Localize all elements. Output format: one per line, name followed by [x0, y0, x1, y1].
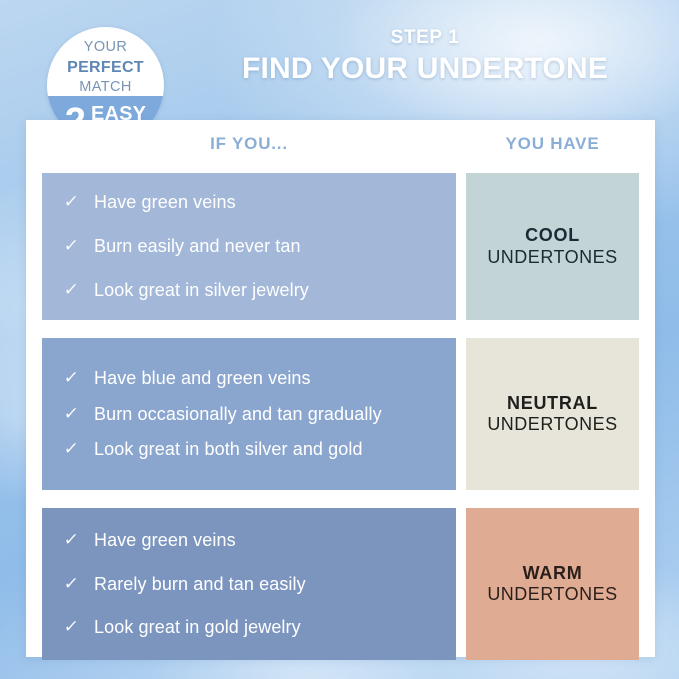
- undertone-row: ✓ Have green veins ✓ Burn easily and nev…: [42, 173, 639, 320]
- undertone-label: UNDERTONES: [487, 414, 617, 435]
- check-icon: ✓: [62, 279, 95, 300]
- undertone-name: WARM: [523, 563, 583, 584]
- page-title: FIND YOUR UNDERTONE: [190, 52, 660, 86]
- badge-line-1: YOUR: [47, 38, 164, 57]
- badge-line-3: MATCH: [47, 78, 164, 97]
- infographic-poster: STEP 1 FIND YOUR UNDERTONE YOUR PERFECT …: [0, 0, 679, 679]
- trait-label: Have blue and green veins: [94, 367, 438, 390]
- trait-item: ✓ Look great in gold jewelry: [64, 616, 438, 639]
- check-icon: ✓: [62, 403, 95, 424]
- trait-item: ✓ Look great in silver jewelry: [64, 279, 438, 302]
- column-header-if-you: IF YOU...: [42, 134, 456, 154]
- check-icon: ✓: [62, 235, 95, 256]
- content-card: IF YOU... YOU HAVE ✓ Have green veins ✓ …: [26, 120, 655, 657]
- undertone-row: ✓ Have green veins ✓ Rarely burn and tan…: [42, 508, 639, 660]
- undertone-row: ✓ Have blue and green veins ✓ Burn occas…: [42, 338, 639, 490]
- check-icon: ✓: [62, 191, 95, 212]
- undertone-swatch: WARM UNDERTONES: [466, 508, 639, 660]
- trait-label: Have green veins: [94, 529, 438, 552]
- trait-label: Rarely burn and tan easily: [94, 573, 438, 596]
- column-header-you-have: YOU HAVE: [466, 134, 639, 154]
- column-headers: IF YOU... YOU HAVE: [42, 134, 639, 164]
- trait-label: Burn easily and never tan: [94, 235, 438, 258]
- trait-item: ✓ Have green veins: [64, 191, 438, 214]
- undertone-label: UNDERTONES: [487, 247, 617, 268]
- check-icon: ✓: [62, 529, 95, 550]
- undertone-swatch: NEUTRAL UNDERTONES: [466, 338, 639, 490]
- undertone-name: COOL: [525, 225, 580, 246]
- undertone-name: NEUTRAL: [507, 393, 598, 414]
- trait-label: Look great in gold jewelry: [94, 616, 438, 639]
- trait-item: ✓ Burn occasionally and tan gradually: [64, 403, 438, 426]
- traits-panel: ✓ Have green veins ✓ Rarely burn and tan…: [42, 508, 456, 660]
- traits-panel: ✓ Have green veins ✓ Burn easily and nev…: [42, 173, 456, 320]
- check-icon: ✓: [62, 367, 95, 388]
- traits-panel: ✓ Have blue and green veins ✓ Burn occas…: [42, 338, 456, 490]
- trait-item: ✓ Have green veins: [64, 529, 438, 552]
- trait-label: Burn occasionally and tan gradually: [94, 403, 438, 426]
- page-heading: STEP 1 FIND YOUR UNDERTONE: [190, 28, 660, 85]
- trait-label: Look great in both silver and gold: [94, 438, 438, 461]
- trait-label: Look great in silver jewelry: [94, 279, 438, 302]
- trait-item: ✓ Look great in both silver and gold: [64, 438, 438, 461]
- badge-top-text: YOUR PERFECT MATCH: [47, 38, 164, 97]
- undertone-label: UNDERTONES: [487, 584, 617, 605]
- trait-item: ✓ Burn easily and never tan: [64, 235, 438, 258]
- check-icon: ✓: [62, 438, 95, 459]
- check-icon: ✓: [62, 616, 95, 637]
- check-icon: ✓: [62, 573, 95, 594]
- trait-item: ✓ Rarely burn and tan easily: [64, 573, 438, 596]
- trait-item: ✓ Have blue and green veins: [64, 367, 438, 390]
- step-label: STEP 1: [190, 28, 660, 49]
- trait-label: Have green veins: [94, 191, 438, 214]
- badge-line-2: PERFECT: [47, 57, 164, 78]
- undertone-rows: ✓ Have green veins ✓ Burn easily and nev…: [42, 173, 639, 660]
- undertone-swatch: COOL UNDERTONES: [466, 173, 639, 320]
